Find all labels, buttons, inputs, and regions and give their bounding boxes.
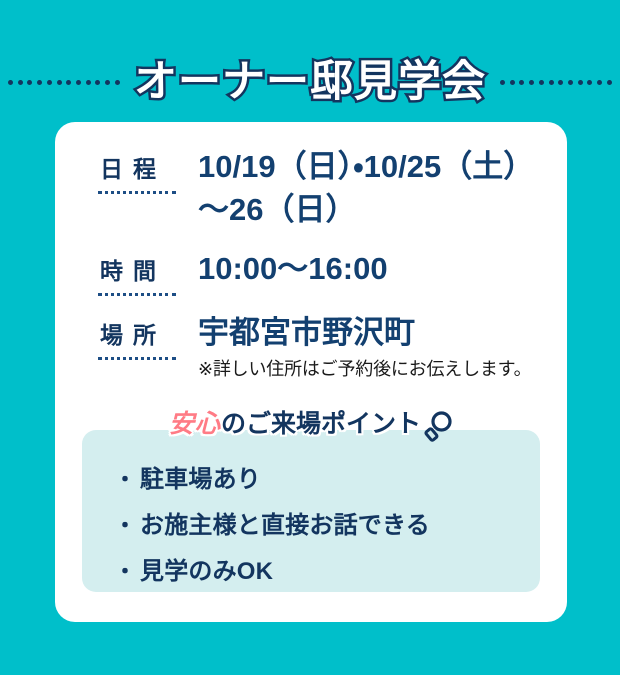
- detail-row-time: 時間 10:00〜16:00: [98, 248, 553, 296]
- point-item-label: お施主様と直接お話できる: [140, 514, 430, 538]
- detail-label-place: 場所: [98, 318, 176, 360]
- detail-row-schedule: 日程 10/19（日）・10/25（土）～26（日）: [98, 146, 553, 232]
- detail-label-time: 時間: [98, 254, 176, 296]
- magnifier-icon: [423, 410, 453, 447]
- title-band: オーナー邸見学会: [0, 52, 620, 112]
- points-heading: 安心のご来場ポイント: [55, 410, 567, 447]
- point-item-label: 見学のみOK: [140, 560, 273, 584]
- event-details-list: 日程 10/19（日）・10/25（土）～26（日） 時間 10:00〜16:0…: [98, 146, 553, 399]
- detail-value-place: 宇都宮市野沢町 ※詳しい住所はご予約後にお伝えします。: [198, 312, 553, 384]
- bullet-icon: ・: [114, 469, 140, 491]
- point-item-label: 駐車場あり: [140, 468, 261, 492]
- detail-note-place: ※詳しい住所はご予約後にお伝えします。: [198, 356, 553, 383]
- detail-value-schedule: 10/19（日）・10/25（土）～26（日）: [198, 146, 553, 232]
- bullet-icon: ・: [114, 515, 140, 537]
- point-item: ・ 見学のみOK: [114, 560, 540, 584]
- point-item: ・ 駐車場あり: [114, 468, 540, 492]
- event-flyer: { "theme": { "background": "#00bfca", "n…: [0, 0, 620, 675]
- page-title: オーナー邸見学会: [134, 61, 486, 104]
- dotted-rule-left-icon: [8, 79, 120, 85]
- detail-value-place-text: 宇都宮市野沢町: [198, 315, 415, 350]
- point-item: ・ お施主様と直接お話できる: [114, 514, 540, 538]
- dotted-rule-right-icon: [500, 79, 612, 85]
- points-heading-accent: 安心: [169, 410, 221, 438]
- bullet-icon: ・: [114, 561, 140, 583]
- info-card: 日程 10/19（日）・10/25（土）～26（日） 時間 10:00〜16:0…: [55, 122, 567, 622]
- points-panel: ・ 駐車場あり ・ お施主様と直接お話できる ・ 見学のみOK: [82, 430, 540, 592]
- detail-label-schedule: 日程: [98, 152, 176, 194]
- points-heading-plain: のご来場ポイント: [221, 410, 421, 438]
- detail-row-place: 場所 宇都宮市野沢町 ※詳しい住所はご予約後にお伝えします。: [98, 312, 553, 384]
- detail-value-time: 10:00〜16:00: [198, 248, 553, 291]
